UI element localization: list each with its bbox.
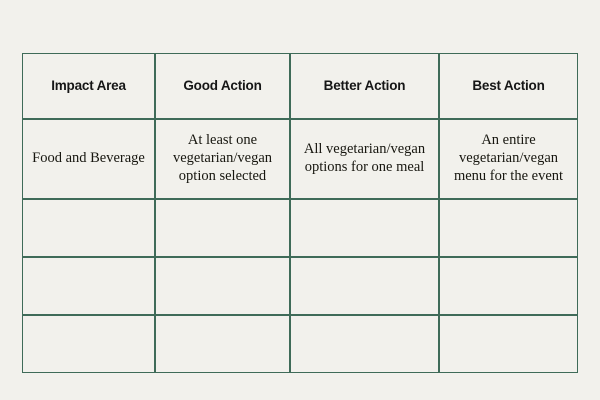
column-header-label: Impact Area bbox=[29, 78, 148, 94]
table-row bbox=[22, 199, 578, 257]
cell-best-action[interactable] bbox=[439, 199, 578, 257]
cell-best-action[interactable]: An entire vegetarian/vegan menu for the … bbox=[439, 119, 578, 199]
table-row bbox=[22, 315, 578, 373]
cell-better-action[interactable] bbox=[290, 315, 439, 373]
cell-text: All vegetarian/vegan options for one mea… bbox=[297, 141, 432, 177]
cell-better-action[interactable] bbox=[290, 199, 439, 257]
table-row bbox=[22, 257, 578, 315]
cell-good-action[interactable] bbox=[155, 199, 290, 257]
cell-impact-area[interactable] bbox=[22, 315, 155, 373]
cell-better-action[interactable]: All vegetarian/vegan options for one mea… bbox=[290, 119, 439, 199]
column-header-label: Good Action bbox=[162, 78, 283, 94]
column-header-label: Better Action bbox=[297, 78, 432, 94]
column-header-impact-area: Impact Area bbox=[22, 53, 155, 119]
column-header-better-action: Better Action bbox=[290, 53, 439, 119]
table-row: Food and Beverage At least one vegetaria… bbox=[22, 119, 578, 199]
cell-text: Food and Beverage bbox=[29, 150, 148, 168]
cell-impact-area[interactable] bbox=[22, 199, 155, 257]
cell-text: An entire vegetarian/vegan menu for the … bbox=[446, 132, 571, 185]
table-header: Impact Area Good Action Better Action Be… bbox=[22, 53, 578, 119]
page-canvas: Impact Area Good Action Better Action Be… bbox=[0, 0, 600, 400]
impact-action-table: Impact Area Good Action Better Action Be… bbox=[22, 53, 578, 373]
cell-text: At least one vegetarian/vegan option sel… bbox=[162, 132, 283, 185]
cell-better-action[interactable] bbox=[290, 257, 439, 315]
impact-table-container: Impact Area Good Action Better Action Be… bbox=[22, 53, 578, 345]
column-header-good-action: Good Action bbox=[155, 53, 290, 119]
cell-best-action[interactable] bbox=[439, 315, 578, 373]
cell-impact-area[interactable] bbox=[22, 257, 155, 315]
table-body: Food and Beverage At least one vegetaria… bbox=[22, 119, 578, 373]
column-header-label: Best Action bbox=[446, 78, 571, 94]
cell-good-action[interactable] bbox=[155, 315, 290, 373]
table-header-row: Impact Area Good Action Better Action Be… bbox=[22, 53, 578, 119]
cell-good-action[interactable] bbox=[155, 257, 290, 315]
column-header-best-action: Best Action bbox=[439, 53, 578, 119]
cell-good-action[interactable]: At least one vegetarian/vegan option sel… bbox=[155, 119, 290, 199]
cell-impact-area[interactable]: Food and Beverage bbox=[22, 119, 155, 199]
cell-best-action[interactable] bbox=[439, 257, 578, 315]
